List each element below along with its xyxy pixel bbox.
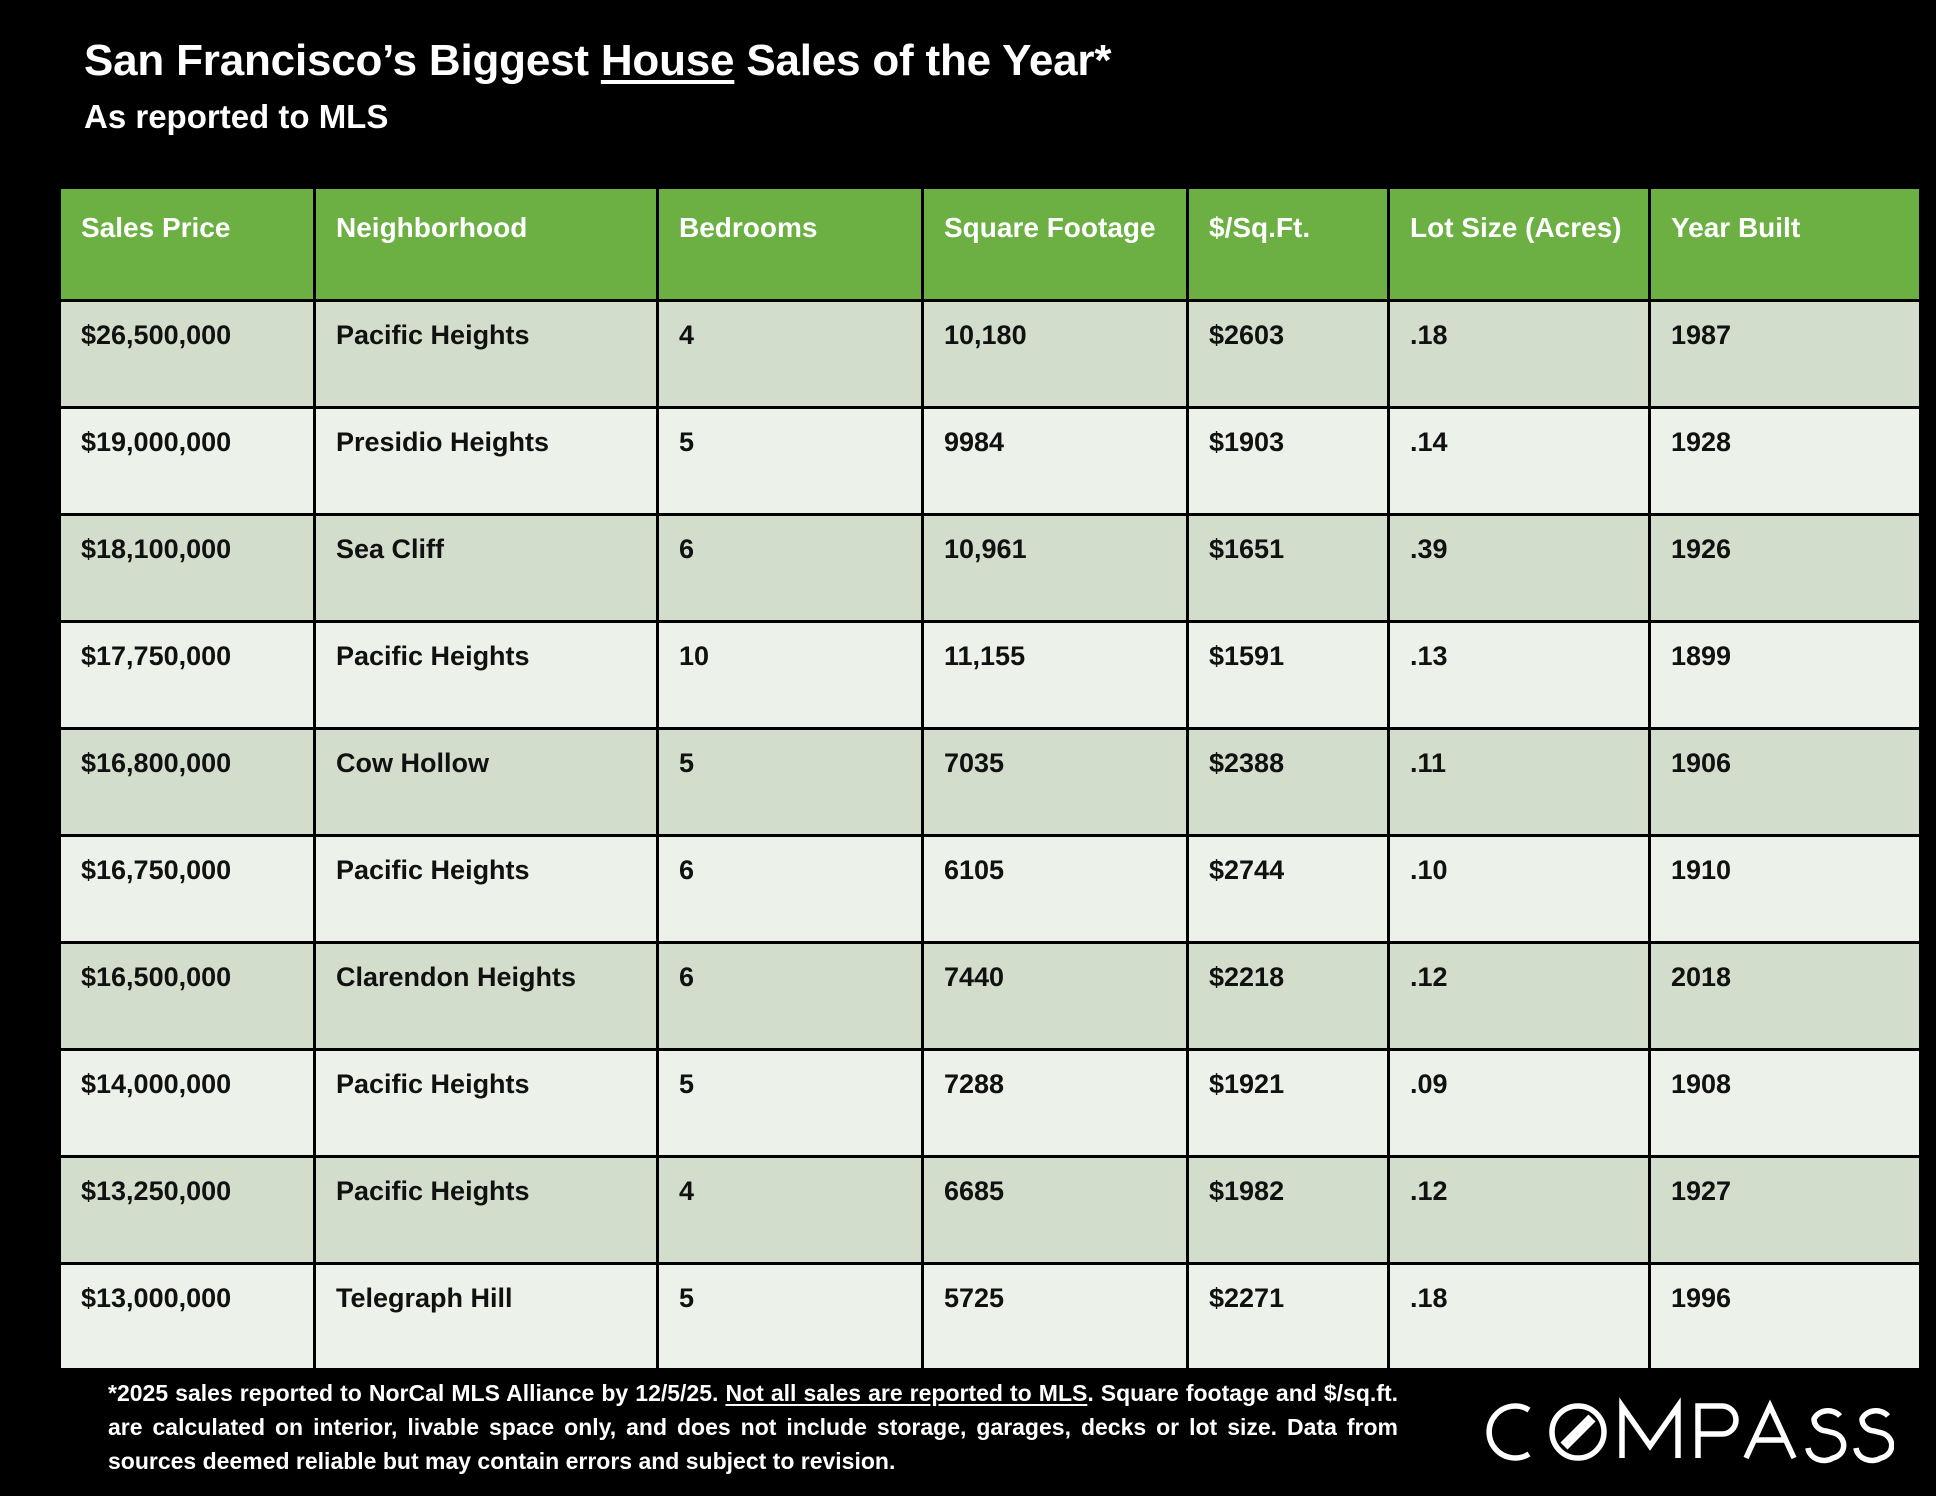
page-title-part-1: San Francisco’s Biggest bbox=[84, 36, 601, 85]
table-row: $26,500,000 Pacific Heights 4 10,180 $26… bbox=[61, 302, 1919, 406]
table-header-row: Sales Price Neighborhood Bedrooms Square… bbox=[61, 189, 1919, 299]
cell-neighborhood: Pacific Heights bbox=[316, 1158, 656, 1262]
cell-price-per-sqft: $1921 bbox=[1189, 1051, 1387, 1155]
page-title-part-2: Sales of the Year* bbox=[734, 36, 1111, 85]
cell-bedrooms: 4 bbox=[659, 302, 921, 406]
table-header: Sales Price Neighborhood Bedrooms Square… bbox=[61, 189, 1919, 299]
cell-neighborhood: Presidio Heights bbox=[316, 409, 656, 513]
cell-sales-price: $16,500,000 bbox=[61, 944, 313, 1048]
cell-sales-price: $14,000,000 bbox=[61, 1051, 313, 1155]
cell-square-footage: 7288 bbox=[924, 1051, 1186, 1155]
footnote-text: *2025 sales reported to NorCal MLS Allia… bbox=[108, 1376, 1398, 1478]
footer: *2025 sales reported to NorCal MLS Allia… bbox=[0, 1368, 1936, 1496]
cell-bedrooms: 6 bbox=[659, 944, 921, 1048]
cell-lot-size: .12 bbox=[1390, 944, 1648, 1048]
table-row: $13,000,000 Telegraph Hill 5 5725 $2271 … bbox=[61, 1265, 1919, 1369]
cell-neighborhood: Clarendon Heights bbox=[316, 944, 656, 1048]
cell-bedrooms: 5 bbox=[659, 409, 921, 513]
cell-price-per-sqft: $2744 bbox=[1189, 837, 1387, 941]
cell-bedrooms: 6 bbox=[659, 837, 921, 941]
table-row: $19,000,000 Presidio Heights 5 9984 $190… bbox=[61, 409, 1919, 513]
cell-price-per-sqft: $2388 bbox=[1189, 730, 1387, 834]
cell-bedrooms: 10 bbox=[659, 623, 921, 727]
cell-year-built: 1927 bbox=[1651, 1158, 1919, 1262]
sales-table: Sales Price Neighborhood Bedrooms Square… bbox=[58, 186, 1922, 1372]
column-header-sales-price: Sales Price bbox=[61, 189, 313, 299]
cell-sales-price: $16,750,000 bbox=[61, 837, 313, 941]
cell-bedrooms: 5 bbox=[659, 1265, 921, 1369]
cell-square-footage: 6105 bbox=[924, 837, 1186, 941]
cell-lot-size: .11 bbox=[1390, 730, 1648, 834]
cell-lot-size: .09 bbox=[1390, 1051, 1648, 1155]
compass-wordmark-icon bbox=[1474, 1390, 1894, 1474]
cell-square-footage: 7440 bbox=[924, 944, 1186, 1048]
page-subtitle: As reported to MLS bbox=[84, 98, 1584, 136]
cell-neighborhood: Telegraph Hill bbox=[316, 1265, 656, 1369]
cell-sales-price: $19,000,000 bbox=[61, 409, 313, 513]
cell-square-footage: 5725 bbox=[924, 1265, 1186, 1369]
cell-lot-size: .18 bbox=[1390, 302, 1648, 406]
cell-neighborhood: Pacific Heights bbox=[316, 302, 656, 406]
cell-lot-size: .18 bbox=[1390, 1265, 1648, 1369]
cell-neighborhood: Cow Hollow bbox=[316, 730, 656, 834]
cell-year-built: 1910 bbox=[1651, 837, 1919, 941]
column-header-neighborhood: Neighborhood bbox=[316, 189, 656, 299]
cell-square-footage: 7035 bbox=[924, 730, 1186, 834]
cell-year-built: 1906 bbox=[1651, 730, 1919, 834]
cell-lot-size: .12 bbox=[1390, 1158, 1648, 1262]
table-row: $16,750,000 Pacific Heights 6 6105 $2744… bbox=[61, 837, 1919, 941]
cell-price-per-sqft: $1591 bbox=[1189, 623, 1387, 727]
cell-year-built: 1899 bbox=[1651, 623, 1919, 727]
cell-lot-size: .10 bbox=[1390, 837, 1648, 941]
cell-neighborhood: Pacific Heights bbox=[316, 623, 656, 727]
table-row: $17,750,000 Pacific Heights 10 11,155 $1… bbox=[61, 623, 1919, 727]
cell-price-per-sqft: $2271 bbox=[1189, 1265, 1387, 1369]
cell-lot-size: .13 bbox=[1390, 623, 1648, 727]
cell-year-built: 1908 bbox=[1651, 1051, 1919, 1155]
compass-logo bbox=[1474, 1390, 1894, 1474]
column-header-bedrooms: Bedrooms bbox=[659, 189, 921, 299]
footnote-underlined-phrase: Not all sales are reported to MLS bbox=[725, 1380, 1087, 1406]
cell-price-per-sqft: $1982 bbox=[1189, 1158, 1387, 1262]
cell-year-built: 1987 bbox=[1651, 302, 1919, 406]
cell-neighborhood: Pacific Heights bbox=[316, 1051, 656, 1155]
cell-year-built: 1926 bbox=[1651, 516, 1919, 620]
cell-bedrooms: 6 bbox=[659, 516, 921, 620]
cell-price-per-sqft: $2218 bbox=[1189, 944, 1387, 1048]
title-block: San Francisco’s Biggest House Sales of t… bbox=[84, 36, 1584, 136]
cell-square-footage: 10,961 bbox=[924, 516, 1186, 620]
slide-root: San Francisco’s Biggest House Sales of t… bbox=[0, 0, 1936, 1496]
table-row: $13,250,000 Pacific Heights 4 6685 $1982… bbox=[61, 1158, 1919, 1262]
cell-year-built: 1996 bbox=[1651, 1265, 1919, 1369]
cell-year-built: 2018 bbox=[1651, 944, 1919, 1048]
cell-bedrooms: 5 bbox=[659, 1051, 921, 1155]
cell-neighborhood: Sea Cliff bbox=[316, 516, 656, 620]
cell-square-footage: 11,155 bbox=[924, 623, 1186, 727]
cell-sales-price: $26,500,000 bbox=[61, 302, 313, 406]
cell-square-footage: 6685 bbox=[924, 1158, 1186, 1262]
table-body: $26,500,000 Pacific Heights 4 10,180 $26… bbox=[61, 302, 1919, 1369]
cell-sales-price: $16,800,000 bbox=[61, 730, 313, 834]
table-row: $16,800,000 Cow Hollow 5 7035 $2388 .11 … bbox=[61, 730, 1919, 834]
cell-price-per-sqft: $1651 bbox=[1189, 516, 1387, 620]
column-header-price-per-sqft: $/Sq.Ft. bbox=[1189, 189, 1387, 299]
column-header-lot-size: Lot Size (Acres) bbox=[1390, 189, 1648, 299]
cell-price-per-sqft: $2603 bbox=[1189, 302, 1387, 406]
cell-bedrooms: 5 bbox=[659, 730, 921, 834]
sales-table-container: Sales Price Neighborhood Bedrooms Square… bbox=[58, 186, 1900, 1372]
cell-square-footage: 9984 bbox=[924, 409, 1186, 513]
cell-year-built: 1928 bbox=[1651, 409, 1919, 513]
page-title-underlined-word: House bbox=[601, 36, 734, 85]
footnote-part-1: *2025 sales reported to NorCal MLS Allia… bbox=[108, 1380, 725, 1406]
cell-sales-price: $18,100,000 bbox=[61, 516, 313, 620]
cell-sales-price: $17,750,000 bbox=[61, 623, 313, 727]
table-row: $14,000,000 Pacific Heights 5 7288 $1921… bbox=[61, 1051, 1919, 1155]
cell-neighborhood: Pacific Heights bbox=[316, 837, 656, 941]
cell-price-per-sqft: $1903 bbox=[1189, 409, 1387, 513]
cell-lot-size: .14 bbox=[1390, 409, 1648, 513]
page-title: San Francisco’s Biggest House Sales of t… bbox=[84, 36, 1584, 85]
cell-square-footage: 10,180 bbox=[924, 302, 1186, 406]
cell-bedrooms: 4 bbox=[659, 1158, 921, 1262]
column-header-square-footage: Square Footage bbox=[924, 189, 1186, 299]
cell-sales-price: $13,000,000 bbox=[61, 1265, 313, 1369]
table-row: $16,500,000 Clarendon Heights 6 7440 $22… bbox=[61, 944, 1919, 1048]
table-row: $18,100,000 Sea Cliff 6 10,961 $1651 .39… bbox=[61, 516, 1919, 620]
column-header-year-built: Year Built bbox=[1651, 189, 1919, 299]
cell-lot-size: .39 bbox=[1390, 516, 1648, 620]
cell-sales-price: $13,250,000 bbox=[61, 1158, 313, 1262]
